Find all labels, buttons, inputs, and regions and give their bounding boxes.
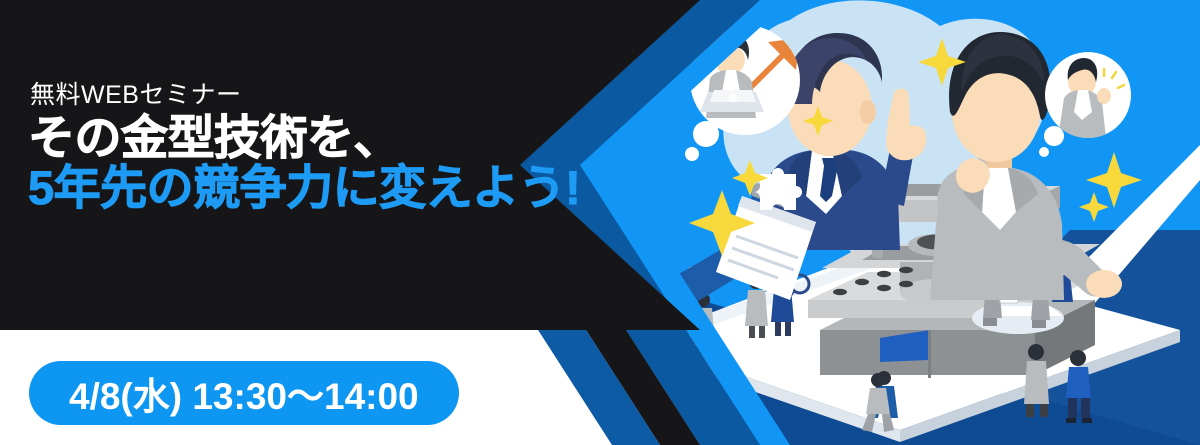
page-title: その金型技術を、 5年先の競争力に変えよう! xyxy=(28,113,580,213)
seminar-date-badge: 4/8(水) 13:30〜14:00 xyxy=(29,361,459,425)
headline-line-2: 5年先の競争力に変えよう! xyxy=(28,163,580,213)
headline-line-1: その金型技術を、 xyxy=(28,113,580,163)
eyebrow-text: 無料WEBセミナー xyxy=(30,80,580,111)
headline-block: 無料WEBセミナー その金型技術を、 5年先の競争力に変えよう! xyxy=(28,80,580,213)
seminar-banner: 無料WEBセミナー その金型技術を、 5年先の競争力に変えよう! 4/8(水) … xyxy=(0,0,1200,445)
